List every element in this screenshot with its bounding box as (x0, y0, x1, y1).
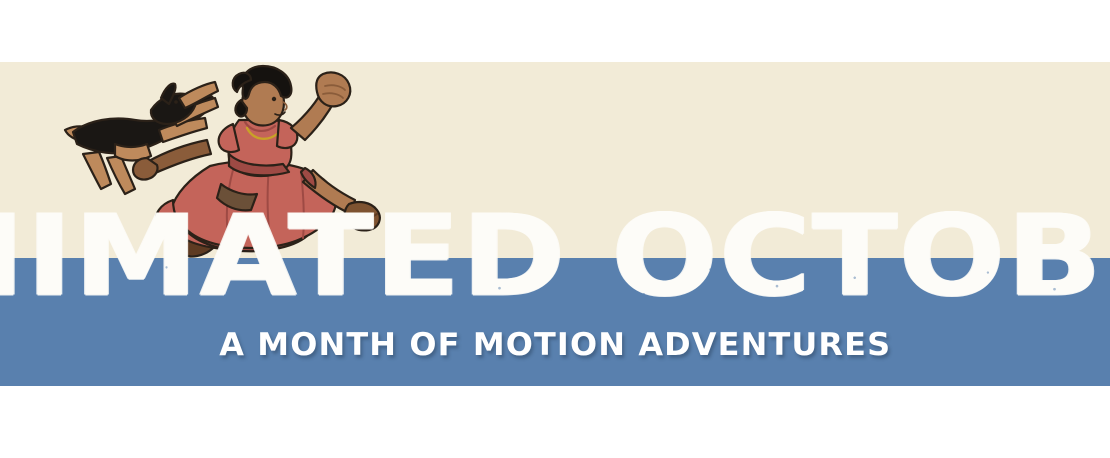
cream-band (0, 62, 1110, 258)
top-white-band (0, 0, 1110, 62)
blue-band (0, 258, 1110, 386)
animated-october-banner: ANIMATED OCTOBER A MONTH OF MOTION ADVEN… (0, 0, 1110, 458)
bottom-white-band (0, 386, 1110, 458)
